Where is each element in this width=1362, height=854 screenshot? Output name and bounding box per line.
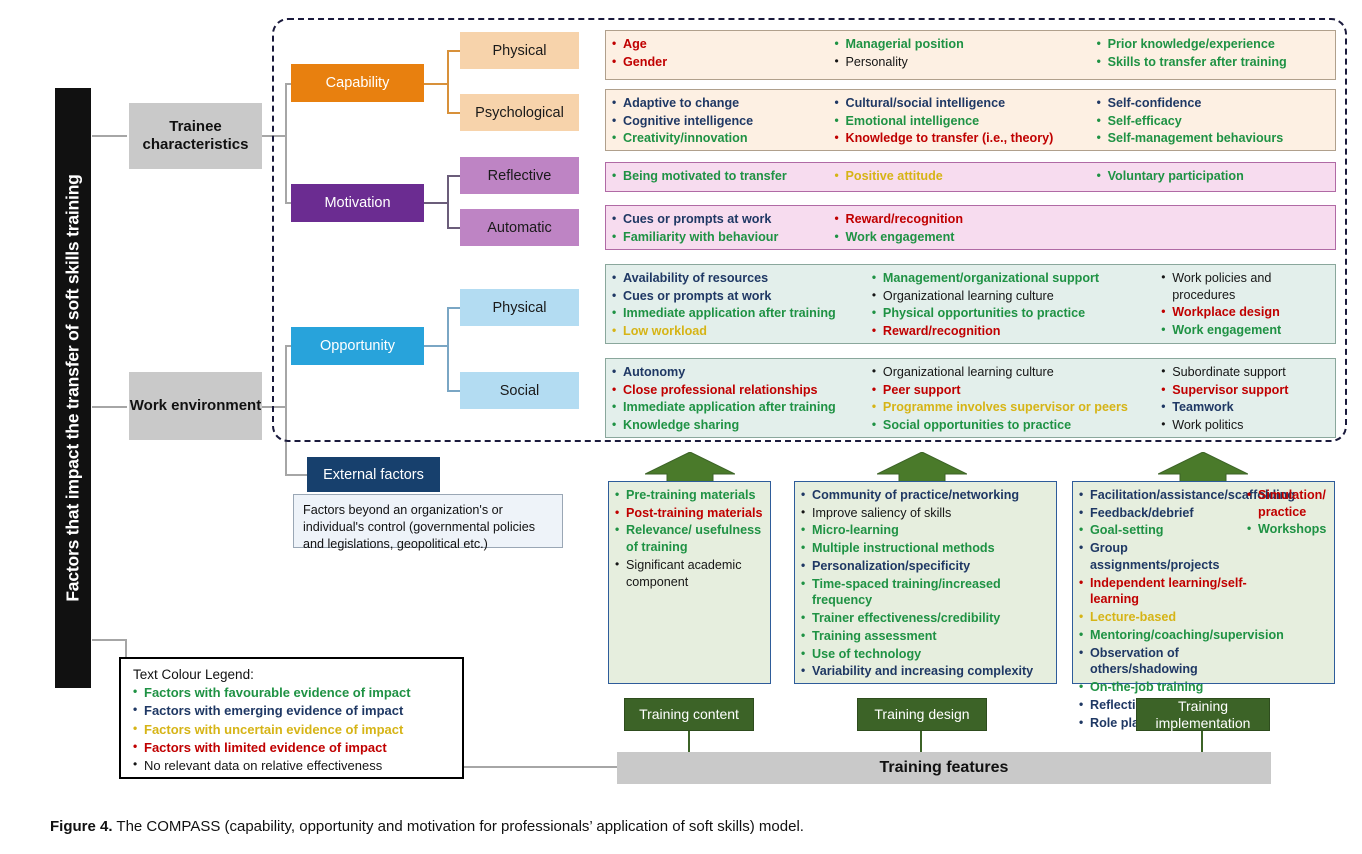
panel-motivation-automatic: •Cues or prompts at work•Familiarity wit… bbox=[605, 205, 1336, 250]
panel-column: •Cultural/social intelligence•Emotional … bbox=[835, 95, 1097, 145]
bullet-icon: • bbox=[615, 487, 626, 503]
list-item-label: Workplace design bbox=[1172, 304, 1329, 321]
list-item-label: Creativity/innovation bbox=[623, 130, 835, 147]
list-item: •Low workload bbox=[612, 323, 872, 340]
bullet-icon: • bbox=[1097, 95, 1108, 111]
bullet-icon: • bbox=[872, 323, 883, 339]
list-item: •Lecture-based bbox=[1079, 609, 1247, 626]
bullet-icon: • bbox=[1079, 540, 1090, 556]
list-item-label: Micro-learning bbox=[812, 522, 1050, 539]
list-item: •Goal-setting bbox=[1079, 522, 1247, 539]
arrow-up-training-content bbox=[645, 452, 735, 484]
list-item-label: Familiarity with behaviour bbox=[623, 229, 835, 246]
list-item: •Autonomy bbox=[612, 364, 872, 381]
list-item-label: Post-training materials bbox=[626, 505, 764, 522]
list-item-label: Pre-training materials bbox=[626, 487, 764, 504]
label-training-content[interactable]: Training content bbox=[624, 698, 754, 731]
panel-training-implementation: •Facilitation/assistance/scaffolding•Fee… bbox=[1072, 481, 1335, 684]
list-item: •Supervisor support bbox=[1161, 382, 1329, 399]
panel-column bbox=[1097, 211, 1329, 244]
list-item-label: Self-efficacy bbox=[1108, 113, 1329, 130]
list-item-label: Community of practice/networking bbox=[812, 487, 1050, 504]
panel-columns: •Adaptive to change•Cognitive intelligen… bbox=[612, 95, 1329, 145]
bullet-icon: • bbox=[1079, 697, 1090, 713]
list-item: •Trainer effectiveness/credibility bbox=[801, 610, 1050, 627]
list-item-label: Immediate application after training bbox=[623, 399, 872, 416]
list-item: •Factors with emerging evidence of impac… bbox=[133, 702, 452, 719]
list-item: •Gender bbox=[612, 54, 835, 71]
list-item-label: Subordinate support bbox=[1172, 364, 1329, 381]
panel-column: •Managerial position•Personality bbox=[835, 36, 1097, 74]
bullet-icon: • bbox=[1161, 270, 1172, 286]
list-item-label: Positive attitude bbox=[846, 168, 1097, 185]
list-item-label: Feedback/debrief bbox=[1090, 505, 1247, 522]
bullet-icon: • bbox=[1247, 487, 1258, 503]
bullet-icon: • bbox=[1079, 522, 1090, 538]
list-item: •Personalization/specificity bbox=[801, 558, 1050, 575]
list-item-label: Programme involves supervisor or peers bbox=[883, 399, 1161, 416]
list-item: •Emotional intelligence bbox=[835, 113, 1097, 130]
category-box-opportunity[interactable]: Opportunity bbox=[291, 327, 424, 365]
list-item: •Voluntary participation bbox=[1097, 168, 1329, 185]
list-item: •Workplace design bbox=[1161, 304, 1329, 321]
bullet-icon: • bbox=[612, 95, 623, 111]
subcategory-label: Psychological bbox=[475, 105, 564, 121]
list-item-label: Factors with uncertain evidence of impac… bbox=[144, 721, 452, 738]
list-item-label: Group assignments/projects bbox=[1090, 540, 1247, 573]
list-item-label: Availability of resources bbox=[623, 270, 872, 287]
list-item-label: No relevant data on relative effectivene… bbox=[144, 757, 452, 774]
list-item-label: Work policies and procedures bbox=[1172, 270, 1329, 303]
list-item: •Work politics bbox=[1161, 417, 1329, 434]
list-item: •Self-confidence bbox=[1097, 95, 1329, 112]
bullet-icon: • bbox=[1161, 417, 1172, 433]
legend-title: Text Colour Legend: bbox=[133, 667, 452, 682]
list-item-label: Work engagement bbox=[1172, 322, 1329, 339]
group-label: Work environment bbox=[130, 397, 261, 415]
bullet-icon: • bbox=[801, 610, 812, 626]
panel-column: •Community of practice/networking•Improv… bbox=[801, 487, 1050, 678]
list-item: •Significant academic component bbox=[615, 557, 764, 590]
bullet-icon: • bbox=[612, 288, 623, 304]
bullet-icon: • bbox=[133, 684, 144, 700]
bullet-icon: • bbox=[612, 229, 623, 245]
panel-columns: •Cues or prompts at work•Familiarity wit… bbox=[612, 211, 1329, 244]
bullet-icon: • bbox=[612, 417, 623, 433]
bullet-icon: • bbox=[801, 505, 812, 521]
bullet-icon: • bbox=[801, 487, 812, 503]
subcategory-label: Reflective bbox=[488, 168, 552, 184]
bullet-icon: • bbox=[872, 399, 883, 415]
list-item-label: Factors with emerging evidence of impact bbox=[144, 702, 452, 719]
bullet-icon: • bbox=[612, 364, 623, 380]
list-item-label: Autonomy bbox=[623, 364, 872, 381]
list-item-label: Simulation/ practice bbox=[1258, 487, 1328, 520]
bullet-icon: • bbox=[872, 270, 883, 286]
list-item: •Relevance/ usefulness of training bbox=[615, 522, 764, 555]
list-item: •Facilitation/assistance/scaffolding bbox=[1079, 487, 1247, 504]
subcategory-label: Automatic bbox=[487, 220, 551, 236]
panel-column: •Being motivated to transfer bbox=[612, 168, 835, 186]
list-item: •Work engagement bbox=[835, 229, 1097, 246]
bullet-icon: • bbox=[1079, 505, 1090, 521]
list-item-label: Social opportunities to practice bbox=[883, 417, 1161, 434]
panel-columns: •Age•Gender•Managerial position•Personal… bbox=[612, 36, 1329, 74]
panel-column: •Reward/recognition•Work engagement bbox=[835, 211, 1097, 244]
panel-capability-psychological: •Adaptive to change•Cognitive intelligen… bbox=[605, 89, 1336, 151]
group-box-trainee-characteristics: Trainee characteristics bbox=[129, 103, 262, 169]
subcategory-box-capability-physical[interactable]: Physical bbox=[460, 32, 579, 69]
list-item: •Reward/recognition bbox=[835, 211, 1097, 228]
bullet-icon: • bbox=[1079, 627, 1090, 643]
subcategory-box-capability-psychological[interactable]: Psychological bbox=[460, 94, 579, 131]
list-item-label: Cues or prompts at work bbox=[623, 211, 835, 228]
list-item: •Observation of others/shadowing bbox=[1079, 645, 1247, 678]
list-item: •Group assignments/projects bbox=[1079, 540, 1247, 573]
list-item: •Training assessment bbox=[801, 628, 1050, 645]
panel-column: •Pre-training materials•Post-training ma… bbox=[615, 487, 764, 678]
label-training-implementation[interactable]: Training implementation bbox=[1136, 698, 1270, 731]
bullet-icon: • bbox=[612, 305, 623, 321]
subcategory-label: Physical bbox=[493, 300, 547, 316]
panel-training-content: •Pre-training materials•Post-training ma… bbox=[608, 481, 771, 684]
list-item-label: Use of technology bbox=[812, 646, 1050, 663]
list-item: •Positive attitude bbox=[835, 168, 1097, 185]
panel-column: •Management/organizational support•Organ… bbox=[872, 270, 1161, 338]
panel-column: •Work policies and procedures•Workplace … bbox=[1161, 270, 1329, 338]
legend-box: Text Colour Legend: •Factors with favour… bbox=[119, 657, 464, 779]
list-item: •Subordinate support bbox=[1161, 364, 1329, 381]
bullet-icon: • bbox=[1247, 521, 1258, 537]
panel-column: •Subordinate support•Supervisor support•… bbox=[1161, 364, 1329, 432]
bullet-icon: • bbox=[835, 168, 846, 184]
list-item-label: Immediate application after training bbox=[623, 305, 872, 322]
list-item-label: Independent learning/self-learning bbox=[1090, 575, 1247, 608]
bullet-icon: • bbox=[1161, 382, 1172, 398]
list-item-label: Relevance/ usefulness of training bbox=[626, 522, 764, 555]
category-label: Capability bbox=[326, 75, 390, 91]
bullet-icon: • bbox=[1079, 609, 1090, 625]
list-item: •Knowledge to transfer (i.e., theory) bbox=[835, 130, 1097, 147]
list-item: •Organizational learning culture bbox=[872, 364, 1161, 381]
subcategory-box-motivation-automatic[interactable]: Automatic bbox=[460, 209, 579, 246]
list-item: •Teamwork bbox=[1161, 399, 1329, 416]
list-item: •Programme involves supervisor or peers bbox=[872, 399, 1161, 416]
bullet-icon: • bbox=[1097, 168, 1108, 184]
bullet-icon: • bbox=[835, 130, 846, 146]
bullet-icon: • bbox=[872, 288, 883, 304]
list-item: •Skills to transfer after training bbox=[1097, 54, 1329, 71]
list-item: •Cultural/social intelligence bbox=[835, 95, 1097, 112]
category-label: Motivation bbox=[324, 195, 390, 211]
panel-columns: •Pre-training materials•Post-training ma… bbox=[615, 487, 764, 678]
legend-items: •Factors with favourable evidence of imp… bbox=[133, 684, 452, 774]
list-item-label: Work engagement bbox=[846, 229, 1097, 246]
list-item: •Being motivated to transfer bbox=[612, 168, 835, 185]
list-item-label: Emotional intelligence bbox=[846, 113, 1097, 130]
list-item-label: Physical opportunities to practice bbox=[883, 305, 1161, 322]
bullet-icon: • bbox=[1161, 304, 1172, 320]
list-item: •Creativity/innovation bbox=[612, 130, 835, 147]
list-item: •Immediate application after training bbox=[612, 305, 872, 322]
list-item: •Pre-training materials bbox=[615, 487, 764, 504]
bullet-icon: • bbox=[1097, 130, 1108, 146]
list-item: •On-the-job training bbox=[1079, 679, 1247, 696]
list-item-label: Workshops bbox=[1258, 521, 1328, 538]
bullet-icon: • bbox=[612, 399, 623, 415]
list-item: •Simulation/ practice bbox=[1247, 487, 1328, 520]
figure-caption: Figure 4. The COMPASS (capability, oppor… bbox=[50, 818, 1150, 835]
list-item-label: Variability and increasing complexity bbox=[812, 663, 1050, 680]
list-item-label: Prior knowledge/experience bbox=[1108, 36, 1329, 53]
training-implementation-text: Training implementation bbox=[1137, 698, 1269, 730]
list-item: •Age bbox=[612, 36, 835, 53]
list-item-label: Knowledge sharing bbox=[623, 417, 872, 434]
list-item: •Use of technology bbox=[801, 646, 1050, 663]
list-item-label: Managerial position bbox=[846, 36, 1097, 53]
list-item-label: Improve saliency of skills bbox=[812, 505, 1050, 522]
arrow-up-training-design bbox=[877, 452, 967, 484]
bullet-icon: • bbox=[835, 54, 846, 70]
bullet-icon: • bbox=[612, 130, 623, 146]
panel-opportunity-social: •Autonomy•Close professional relationshi… bbox=[605, 358, 1336, 438]
list-item: •Organizational learning culture bbox=[872, 288, 1161, 305]
panel-columns: •Being motivated to transfer•Positive at… bbox=[612, 168, 1329, 186]
bullet-icon: • bbox=[835, 36, 846, 52]
bullet-icon: • bbox=[801, 558, 812, 574]
subcategory-box-opportunity-social[interactable]: Social bbox=[460, 372, 579, 409]
list-item-label: Age bbox=[623, 36, 835, 53]
group-label: Trainee characteristics bbox=[129, 118, 262, 153]
external-factors-description: Factors beyond an organization's or indi… bbox=[293, 494, 563, 548]
bullet-icon: • bbox=[872, 417, 883, 433]
bullet-icon: • bbox=[612, 323, 623, 339]
list-item: •Improve saliency of skills bbox=[801, 505, 1050, 522]
list-item: •Micro-learning bbox=[801, 522, 1050, 539]
list-item-label: Low workload bbox=[623, 323, 872, 340]
bullet-icon: • bbox=[1079, 679, 1090, 695]
bullet-icon: • bbox=[801, 646, 812, 662]
panel-column: •Voluntary participation bbox=[1097, 168, 1329, 186]
bullet-icon: • bbox=[835, 95, 846, 111]
list-item-label: Self-management behaviours bbox=[1108, 130, 1329, 147]
bullet-icon: • bbox=[1079, 715, 1090, 731]
connector-title-work bbox=[92, 406, 127, 408]
bullet-icon: • bbox=[615, 505, 626, 521]
list-item-label: Gender bbox=[623, 54, 835, 71]
bullet-icon: • bbox=[615, 522, 626, 538]
bullet-icon: • bbox=[612, 382, 623, 398]
list-item-label: Work politics bbox=[1172, 417, 1329, 434]
panel-columns: •Community of practice/networking•Improv… bbox=[801, 487, 1050, 678]
external-factors-box[interactable]: External factors bbox=[307, 457, 440, 492]
list-item: •Multiple instructional methods bbox=[801, 540, 1050, 557]
bullet-icon: • bbox=[133, 702, 144, 718]
panel-column: •Adaptive to change•Cognitive intelligen… bbox=[612, 95, 835, 145]
label-training-design[interactable]: Training design bbox=[857, 698, 987, 731]
bullet-icon: • bbox=[133, 721, 144, 737]
bullet-icon: • bbox=[612, 54, 623, 70]
bullet-icon: • bbox=[1079, 575, 1090, 591]
caption-text: The COMPASS (capability, opportunity and… bbox=[113, 818, 804, 835]
subcategory-box-motivation-reflective[interactable]: Reflective bbox=[460, 157, 579, 194]
caption-label: Figure 4. bbox=[50, 818, 113, 835]
list-item-label: Organizational learning culture bbox=[883, 364, 1161, 381]
panel-column: •Autonomy•Close professional relationshi… bbox=[612, 364, 872, 432]
list-item-label: Adaptive to change bbox=[623, 95, 835, 112]
panel-column: •Prior knowledge/experience•Skills to tr… bbox=[1097, 36, 1329, 74]
list-item-label: Skills to transfer after training bbox=[1108, 54, 1329, 71]
connector-title-features-h bbox=[92, 639, 127, 641]
list-item-label: Management/organizational support bbox=[883, 270, 1161, 287]
list-item: •Physical opportunities to practice bbox=[872, 305, 1161, 322]
bullet-icon: • bbox=[1079, 487, 1090, 503]
bullet-icon: • bbox=[1097, 54, 1108, 70]
list-item: •Reward/recognition bbox=[872, 323, 1161, 340]
external-factors-label: External factors bbox=[323, 467, 424, 483]
list-item: •Management/organizational support bbox=[872, 270, 1161, 287]
list-item: •Adaptive to change bbox=[612, 95, 835, 112]
subcategory-box-opportunity-physical[interactable]: Physical bbox=[460, 289, 579, 326]
list-item-label: Cognitive intelligence bbox=[623, 113, 835, 130]
bullet-icon: • bbox=[801, 628, 812, 644]
list-item: •Familiarity with behaviour bbox=[612, 229, 835, 246]
list-item-label: Cues or prompts at work bbox=[623, 288, 872, 305]
list-item-label: Significant academic component bbox=[626, 557, 764, 590]
list-item: •Cues or prompts at work bbox=[612, 288, 872, 305]
list-item: •Cognitive intelligence bbox=[612, 113, 835, 130]
list-item: •Post-training materials bbox=[615, 505, 764, 522]
bullet-icon: • bbox=[615, 557, 626, 573]
bullet-icon: • bbox=[133, 757, 144, 773]
panel-columns: •Autonomy•Close professional relationshi… bbox=[612, 364, 1329, 432]
category-label: Opportunity bbox=[320, 338, 395, 354]
panel-columns: •Facilitation/assistance/scaffolding•Fee… bbox=[1079, 487, 1328, 678]
panel-column: •Availability of resources•Cues or promp… bbox=[612, 270, 872, 338]
list-item: •Work policies and procedures bbox=[1161, 270, 1329, 303]
list-item: •Feedback/debrief bbox=[1079, 505, 1247, 522]
bullet-icon: • bbox=[612, 168, 623, 184]
list-item: •Social opportunities to practice bbox=[872, 417, 1161, 434]
category-box-motivation[interactable]: Motivation bbox=[291, 184, 424, 222]
list-item-label: Goal-setting bbox=[1090, 522, 1247, 539]
panel-training-design: •Community of practice/networking•Improv… bbox=[794, 481, 1057, 684]
list-item-label: Organizational learning culture bbox=[883, 288, 1161, 305]
bullet-icon: • bbox=[612, 113, 623, 129]
vertical-title-text: Factors that impact the transfer of soft… bbox=[63, 174, 84, 601]
bullet-icon: • bbox=[801, 540, 812, 556]
list-item-label: On-the-job training bbox=[1090, 679, 1247, 696]
list-item: •Availability of resources bbox=[612, 270, 872, 287]
list-item-label: Peer support bbox=[883, 382, 1161, 399]
list-item: •Close professional relationships bbox=[612, 382, 872, 399]
list-item: •Mentoring/coaching/supervision bbox=[1079, 627, 1247, 644]
list-item: •Prior knowledge/experience bbox=[1097, 36, 1329, 53]
bullet-icon: • bbox=[612, 270, 623, 286]
list-item: •Knowledge sharing bbox=[612, 417, 872, 434]
bullet-icon: • bbox=[1097, 113, 1108, 129]
list-item-label: Observation of others/shadowing bbox=[1090, 645, 1247, 678]
panel-column: •Positive attitude bbox=[835, 168, 1097, 186]
connector-title-trainee bbox=[92, 135, 127, 137]
category-box-capability[interactable]: Capability bbox=[291, 64, 424, 102]
training-features-label: Training features bbox=[880, 759, 1009, 777]
panel-motivation-reflective: •Being motivated to transfer•Positive at… bbox=[605, 162, 1336, 192]
list-item: •Workshops bbox=[1247, 521, 1328, 538]
bullet-icon: • bbox=[801, 576, 812, 592]
list-item: •Factors with limited evidence of impact bbox=[133, 739, 452, 756]
list-item-label: Personalization/specificity bbox=[812, 558, 1050, 575]
bullet-icon: • bbox=[612, 211, 623, 227]
list-item: •Work engagement bbox=[1161, 322, 1329, 339]
bullet-icon: • bbox=[835, 229, 846, 245]
bullet-icon: • bbox=[872, 305, 883, 321]
subcategory-label: Physical bbox=[493, 43, 547, 59]
bullet-icon: • bbox=[1097, 36, 1108, 52]
training-design-text: Training design bbox=[874, 706, 969, 722]
figure-vertical-title: Factors that impact the transfer of soft… bbox=[55, 88, 91, 688]
list-item-label: Time-spaced training/increased frequency bbox=[812, 576, 1050, 609]
bullet-icon: • bbox=[1161, 364, 1172, 380]
bullet-icon: • bbox=[612, 36, 623, 52]
bullet-icon: • bbox=[1079, 645, 1090, 661]
list-item: •No relevant data on relative effectiven… bbox=[133, 757, 452, 774]
subcategory-label: Social bbox=[500, 383, 540, 399]
list-item-label: Self-confidence bbox=[1108, 95, 1329, 112]
training-content-text: Training content bbox=[639, 706, 739, 722]
panel-columns: •Availability of resources•Cues or promp… bbox=[612, 270, 1329, 338]
list-item-label: Factors with favourable evidence of impa… bbox=[144, 684, 452, 701]
group-box-work-environment: Work environment bbox=[129, 372, 262, 440]
list-item: •Factors with favourable evidence of imp… bbox=[133, 684, 452, 701]
bullet-icon: • bbox=[1161, 399, 1172, 415]
list-item-label: Multiple instructional methods bbox=[812, 540, 1050, 557]
list-item: •Cues or prompts at work bbox=[612, 211, 835, 228]
list-item-label: Reward/recognition bbox=[883, 323, 1161, 340]
panel-opportunity-physical: •Availability of resources•Cues or promp… bbox=[605, 264, 1336, 344]
list-item: •Managerial position bbox=[835, 36, 1097, 53]
list-item-label: Trainer effectiveness/credibility bbox=[812, 610, 1050, 627]
list-item: •Peer support bbox=[872, 382, 1161, 399]
bullet-icon: • bbox=[133, 739, 144, 755]
arrow-up-training-implementation bbox=[1158, 452, 1248, 484]
list-item: •Immediate application after training bbox=[612, 399, 872, 416]
list-item-label: Factors with limited evidence of impact bbox=[144, 739, 452, 756]
bullet-icon: • bbox=[1161, 322, 1172, 338]
list-item-label: Lecture-based bbox=[1090, 609, 1247, 626]
panel-column: •Facilitation/assistance/scaffolding•Fee… bbox=[1079, 487, 1247, 678]
bullet-icon: • bbox=[872, 364, 883, 380]
list-item-label: Cultural/social intelligence bbox=[846, 95, 1097, 112]
list-item-label: Training assessment bbox=[812, 628, 1050, 645]
compass-model-figure: Factors that impact the transfer of soft… bbox=[0, 0, 1362, 854]
list-item: •Community of practice/networking bbox=[801, 487, 1050, 504]
list-item: •Variability and increasing complexity bbox=[801, 663, 1050, 680]
panel-column: •Cues or prompts at work•Familiarity wit… bbox=[612, 211, 835, 244]
list-item: •Self-management behaviours bbox=[1097, 130, 1329, 147]
list-item: •Factors with uncertain evidence of impa… bbox=[133, 721, 452, 738]
panel-capability-physical: •Age•Gender•Managerial position•Personal… bbox=[605, 30, 1336, 80]
panel-column: •Organizational learning culture•Peer su… bbox=[872, 364, 1161, 432]
connector-to-external bbox=[285, 474, 307, 476]
panel-column: •Age•Gender bbox=[612, 36, 835, 74]
list-item: •Personality bbox=[835, 54, 1097, 71]
list-item-label: Being motivated to transfer bbox=[623, 168, 835, 185]
list-item-label: Voluntary participation bbox=[1108, 168, 1329, 185]
bullet-icon: • bbox=[835, 113, 846, 129]
bullet-icon: • bbox=[801, 663, 812, 679]
list-item-label: Supervisor support bbox=[1172, 382, 1329, 399]
